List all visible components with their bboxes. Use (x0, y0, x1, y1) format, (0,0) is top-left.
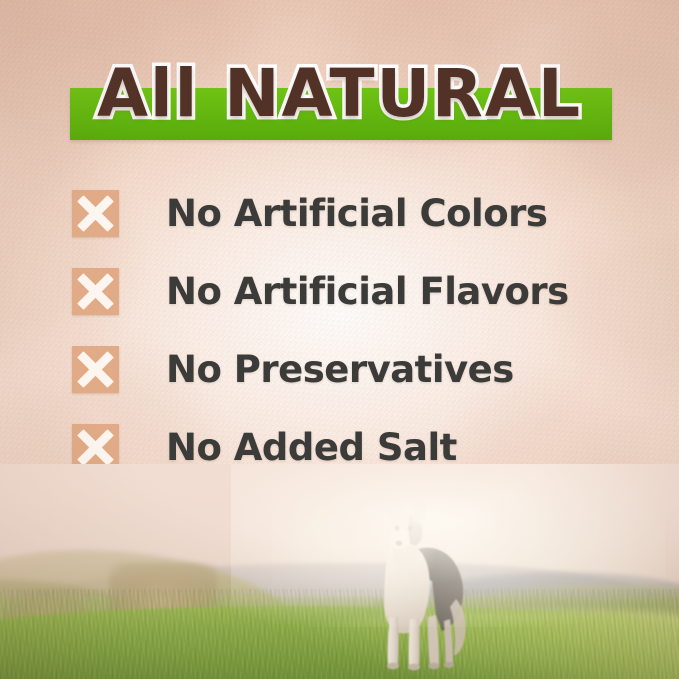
grass-texture (0, 589, 679, 679)
landscape-photo (0, 464, 679, 679)
x-mark-icon (72, 346, 119, 393)
list-item: No Preservatives (72, 330, 612, 408)
claim-label: No Artificial Colors (166, 192, 547, 235)
dog (352, 495, 484, 673)
list-item: No Artificial Flavors (72, 252, 612, 330)
claim-label: No Added Salt (166, 426, 457, 469)
list-item: No Artificial Colors (72, 174, 612, 252)
headline-block: All NATURAL (0, 48, 679, 140)
claim-label: No Preservatives (166, 348, 514, 391)
x-mark-icon (72, 268, 119, 315)
page-title: All NATURAL (0, 48, 679, 140)
claims-list: No Artificial Colors No Artificial Flavo… (72, 174, 612, 486)
product-feature-poster: All NATURAL No Artificial Colors No Arti… (0, 0, 679, 679)
claim-label: No Artificial Flavors (166, 270, 569, 313)
x-mark-icon (72, 190, 119, 237)
